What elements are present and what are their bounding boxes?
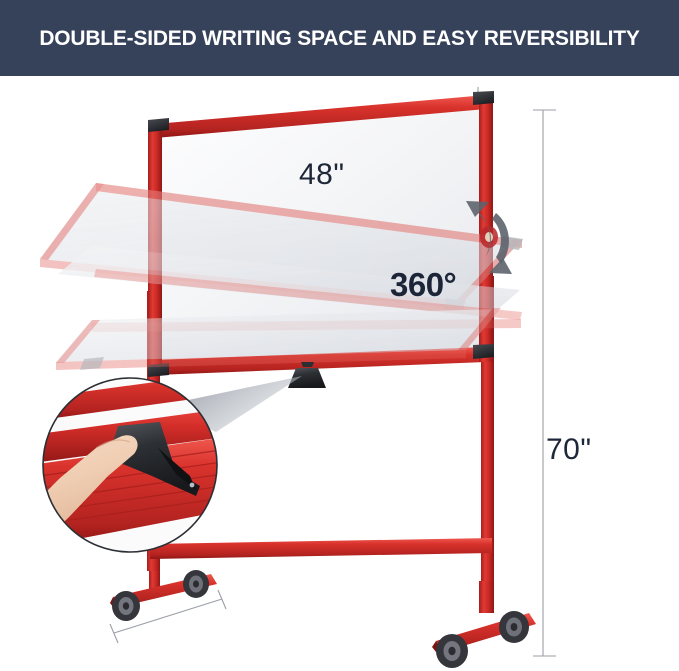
- corner-cap-bottom-right: [473, 344, 494, 359]
- corner-cap-top-right: [473, 91, 494, 105]
- caster-wheel-right-rear: [499, 611, 529, 643]
- caster-wheel-left-rear: [183, 570, 209, 598]
- caster-wheel-right-front: [436, 634, 468, 668]
- product-scene: 48" 70" 22" 360°: [0, 76, 679, 671]
- corner-cap-top-left: [148, 118, 169, 132]
- rotation-label: 360°: [390, 266, 456, 304]
- dimension-label-height: 70": [546, 433, 592, 467]
- dimension-label-width: 48": [299, 158, 345, 192]
- page-title: DOUBLE-SIDED WRITING SPACE AND EASY REVE…: [8, 0, 670, 76]
- stand-cross-brace: [150, 538, 492, 559]
- dimension-height-70: [533, 110, 556, 656]
- infographic-canvas: DOUBLE-SIDED WRITING SPACE AND EASY REVE…: [0, 0, 679, 671]
- caster-wheel-left-front: [112, 591, 140, 621]
